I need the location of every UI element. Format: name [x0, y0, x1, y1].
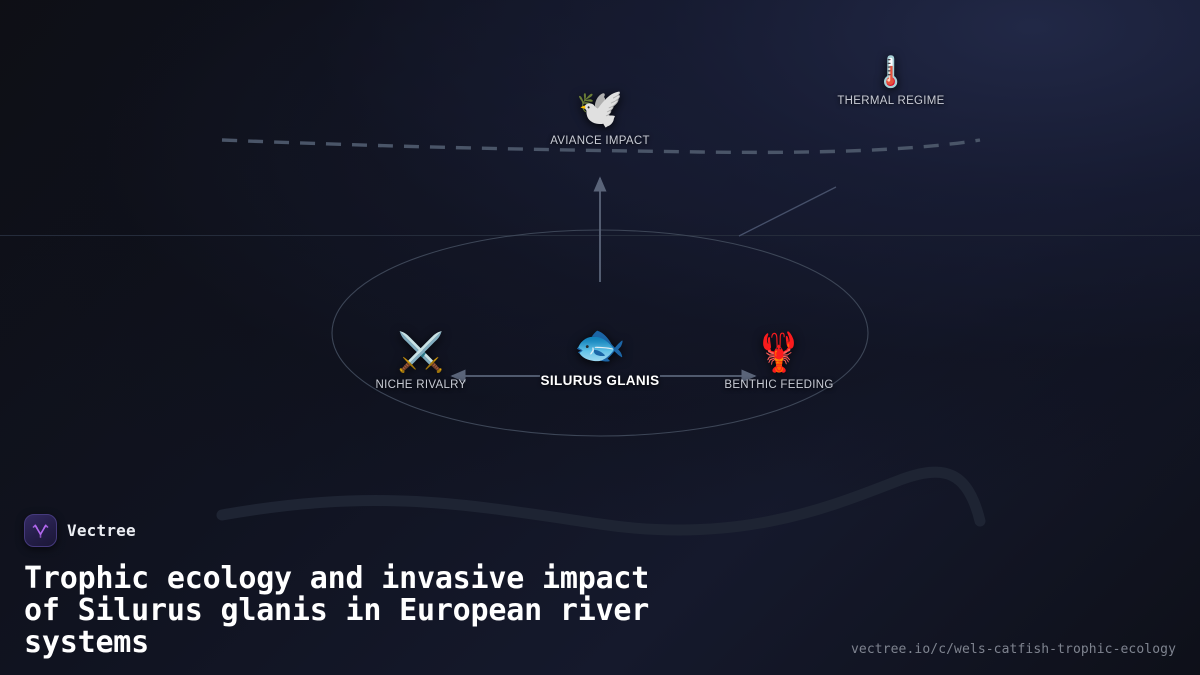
dove-icon: 🕊️	[576, 88, 623, 132]
node-label-aviance-impact: AVIANCE IMPACT	[550, 135, 650, 147]
thermometer-icon: 🌡️	[872, 56, 909, 92]
node-label-niche-rivalry: NICHE RIVALRY	[375, 379, 466, 391]
node-silurus-glanis[interactable]: 🐟 SILURUS GLANIS	[541, 322, 660, 388]
fish-icon: 🐟	[574, 322, 626, 370]
page-title: Trophic ecology and invasive impact of S…	[24, 563, 824, 659]
source-url: vectree.io/c/wels-catfish-trophic-ecolog…	[851, 642, 1176, 657]
crossed-swords-icon: ⚔️	[397, 332, 444, 376]
node-aviance-impact[interactable]: 🕊️ AVIANCE IMPACT	[550, 88, 650, 147]
node-benthic-feeding[interactable]: 🦞 BENTHIC FEEDING	[724, 332, 833, 391]
node-niche-rivalry[interactable]: ⚔️ NICHE RIVALRY	[375, 332, 466, 391]
lobster-icon: 🦞	[755, 332, 802, 376]
node-label-benthic-feeding: BENTHIC FEEDING	[724, 379, 833, 391]
brand-block[interactable]: Vectree	[24, 514, 1176, 547]
node-label-silurus-glanis: SILURUS GLANIS	[541, 373, 660, 388]
brand-name: Vectree	[67, 521, 136, 540]
node-label-thermal-regime: THERMAL REGIME	[837, 95, 944, 107]
vectree-tree-mark-icon	[24, 514, 57, 547]
stray-connector	[739, 187, 836, 236]
node-thermal-regime[interactable]: 🌡️ THERMAL REGIME	[837, 56, 944, 107]
graph-canvas: 🌡️ THERMAL REGIME 🕊️ AVIANCE IMPACT ⚔️ N…	[0, 0, 1200, 675]
